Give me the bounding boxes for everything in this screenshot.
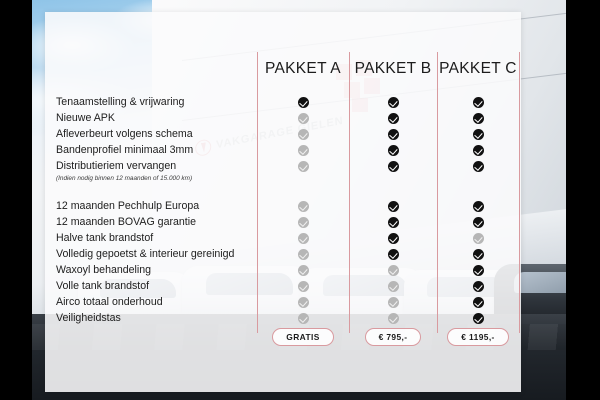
check-cell — [437, 230, 519, 246]
check-excluded-icon — [298, 129, 309, 140]
check-cell — [437, 278, 519, 294]
check-cell — [349, 94, 437, 110]
check-included-icon — [473, 217, 484, 228]
check-column-b — [349, 94, 437, 326]
check-column-c — [437, 94, 519, 326]
check-group-gap — [437, 183, 519, 198]
feature-label: Volle tank brandstof — [56, 278, 256, 294]
check-cell — [349, 262, 437, 278]
check-cell — [349, 198, 437, 214]
feature-label: Veiligheidstas — [56, 310, 256, 326]
check-included-icon — [473, 113, 484, 124]
check-excluded-icon — [298, 281, 309, 292]
check-cell — [437, 246, 519, 262]
feature-label: Distributieriem vervangen — [56, 158, 256, 174]
check-included-icon — [298, 97, 309, 108]
check-cell — [437, 110, 519, 126]
check-cell — [257, 294, 349, 310]
check-excluded-icon — [298, 113, 309, 124]
check-cell — [349, 246, 437, 262]
feature-label: 12 maanden Pechhulp Europa — [56, 198, 256, 214]
check-cell — [257, 110, 349, 126]
check-excluded-icon — [298, 265, 309, 276]
check-cell — [257, 278, 349, 294]
check-cell — [437, 94, 519, 110]
check-cell — [437, 262, 519, 278]
check-group-gap — [257, 183, 349, 198]
check-included-icon — [473, 281, 484, 292]
check-cell — [349, 158, 437, 174]
price-row: GRATIS € 795,- € 1195,- — [45, 325, 521, 349]
check-excluded-icon — [388, 297, 399, 308]
check-excluded-icon — [298, 249, 309, 260]
check-cell — [257, 94, 349, 110]
check-note-spacer — [437, 174, 519, 183]
check-note-spacer — [349, 174, 437, 183]
check-included-icon — [473, 201, 484, 212]
check-included-icon — [473, 297, 484, 308]
check-included-icon — [473, 313, 484, 324]
check-excluded-icon — [388, 281, 399, 292]
feature-label: Halve tank brandstof — [56, 230, 256, 246]
screenshot-stage: VAKGARAGE GIELEN — [0, 0, 600, 400]
check-cell — [257, 230, 349, 246]
feature-label: Waxoyl behandeling — [56, 262, 256, 278]
check-cell — [257, 198, 349, 214]
package-header-a: PAKKET A — [257, 60, 349, 84]
check-included-icon — [388, 97, 399, 108]
check-cell — [257, 142, 349, 158]
letterbox-bar-left — [0, 0, 32, 400]
letterbox-bar-right — [566, 0, 600, 400]
feature-label: 12 maanden BOVAG garantie — [56, 214, 256, 230]
feature-label-list: Tenaamstelling & vrijwaringNieuwe APKAfl… — [56, 94, 256, 326]
check-included-icon — [388, 249, 399, 260]
check-cell — [437, 158, 519, 174]
package-comparison-card: PAKKET A PAKKET B PAKKET C Tenaamstellin… — [45, 12, 521, 392]
check-cell — [437, 294, 519, 310]
column-divider — [519, 52, 520, 333]
check-included-icon — [388, 217, 399, 228]
check-cell — [437, 214, 519, 230]
check-included-icon — [473, 97, 484, 108]
check-cell — [349, 110, 437, 126]
check-excluded-icon — [298, 313, 309, 324]
check-cell — [257, 246, 349, 262]
package-header-row: PAKKET A PAKKET B PAKKET C — [45, 60, 521, 84]
check-column-a — [257, 94, 349, 326]
feature-note: (Indien nodig binnen 12 maanden of 15.00… — [56, 174, 256, 183]
check-cell — [257, 158, 349, 174]
check-cell — [257, 310, 349, 326]
feature-group-gap — [56, 183, 256, 198]
check-included-icon — [388, 201, 399, 212]
package-header-c: PAKKET C — [437, 60, 519, 84]
check-cell — [349, 278, 437, 294]
feature-label: Tenaamstelling & vrijwaring — [56, 94, 256, 110]
check-cell — [437, 198, 519, 214]
feature-label: Nieuwe APK — [56, 110, 256, 126]
package-header-b: PAKKET B — [349, 60, 437, 84]
check-excluded-icon — [298, 145, 309, 156]
check-excluded-icon — [388, 265, 399, 276]
feature-label: Volledig gepoetst & interieur gereinigd — [56, 246, 256, 262]
check-included-icon — [473, 145, 484, 156]
check-included-icon — [388, 161, 399, 172]
check-included-icon — [388, 113, 399, 124]
check-included-icon — [388, 145, 399, 156]
check-note-spacer — [257, 174, 349, 183]
feature-label: Bandenprofiel minimaal 3mm — [56, 142, 256, 158]
check-cell — [349, 230, 437, 246]
check-cell — [349, 142, 437, 158]
check-cell — [349, 214, 437, 230]
feature-label: Afleverbeurt volgens schema — [56, 126, 256, 142]
check-included-icon — [473, 265, 484, 276]
check-included-icon — [388, 233, 399, 244]
check-included-icon — [473, 129, 484, 140]
check-excluded-icon — [298, 201, 309, 212]
check-cell — [349, 126, 437, 142]
check-cell — [349, 310, 437, 326]
check-excluded-icon — [298, 161, 309, 172]
check-cell — [437, 310, 519, 326]
price-cell-a: GRATIS — [257, 325, 349, 349]
check-group-gap — [349, 183, 437, 198]
check-cell — [257, 262, 349, 278]
check-cell — [437, 126, 519, 142]
price-cell-b: € 795,- — [349, 325, 437, 349]
check-included-icon — [473, 161, 484, 172]
check-excluded-icon — [473, 233, 484, 244]
check-cell — [257, 126, 349, 142]
check-cell — [349, 294, 437, 310]
check-excluded-icon — [298, 217, 309, 228]
check-excluded-icon — [298, 233, 309, 244]
check-included-icon — [473, 249, 484, 260]
price-pill-c[interactable]: € 1195,- — [447, 328, 508, 346]
price-cell-c: € 1195,- — [437, 325, 519, 349]
price-pill-a[interactable]: GRATIS — [272, 328, 333, 346]
check-cell — [257, 214, 349, 230]
check-included-icon — [388, 129, 399, 140]
check-excluded-icon — [298, 297, 309, 308]
feature-label: Airco totaal onderhoud — [56, 294, 256, 310]
check-excluded-icon — [388, 313, 399, 324]
price-pill-b[interactable]: € 795,- — [365, 328, 422, 346]
check-cell — [437, 142, 519, 158]
